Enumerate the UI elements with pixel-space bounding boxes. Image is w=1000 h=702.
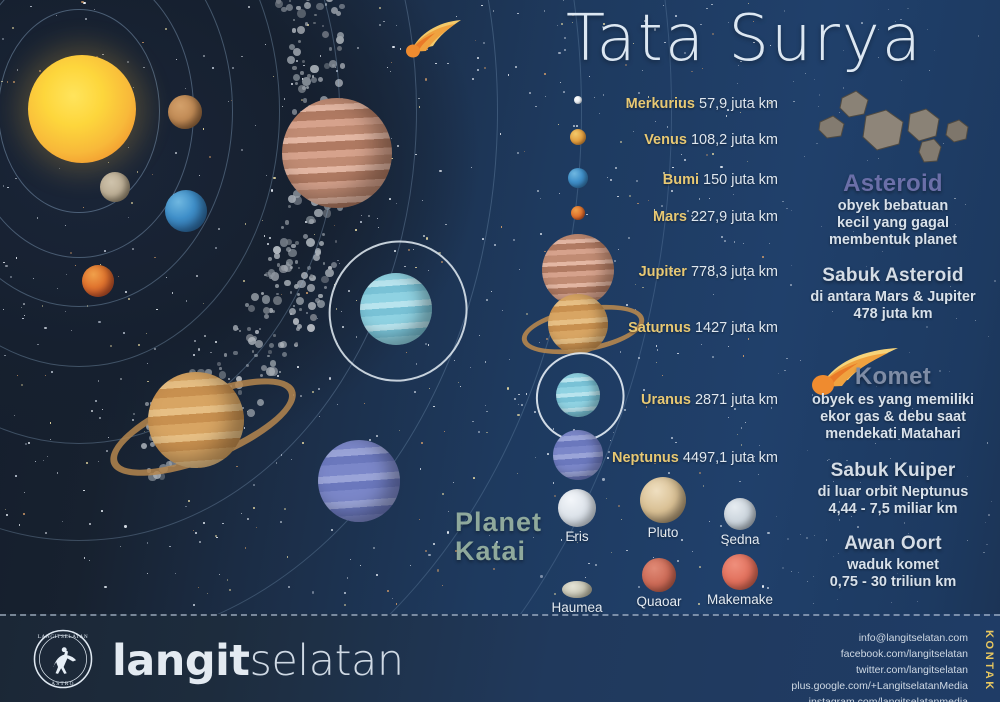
dwarf-planet-label: Haumea [538, 600, 616, 615]
pluto-icon [640, 477, 686, 523]
planet-jupiter-illustration [282, 98, 392, 208]
planet-venus-icon [570, 129, 586, 145]
planet-row-mars: Mars 227,9 juta km [653, 209, 778, 225]
asteroid-belt-line-2: 478 juta km [854, 306, 933, 322]
komet-block: Komet obyek es yang memiliki ekor gas & … [788, 363, 998, 443]
planet-name: Bumi [663, 172, 699, 188]
dwarf-planet-orb [701, 490, 779, 530]
planet-row-merkurius: Merkurius 57,9 juta km [626, 96, 778, 112]
planet-neptune-illustration [318, 440, 400, 522]
svg-text:LANGITSELATAN: LANGITSELATAN [38, 634, 89, 640]
kuiper-belt-block: Sabuk Kuiper di luar orbit Neptunus 4,44… [788, 460, 998, 518]
planet-distance: 57,9 juta km [699, 96, 778, 112]
dwarf-planet-orb [538, 487, 616, 527]
dwarf-planet-eris: Eris [538, 487, 616, 544]
asteroid-cluster-icon [812, 86, 992, 172]
planet-mars-icon [571, 206, 585, 220]
planet-mars-illustration [82, 265, 114, 297]
planet-row-venus: Venus 108,2 juta km [644, 132, 778, 148]
contact-facebook[interactable]: facebook.com/langitselatan [791, 647, 968, 663]
asteroid-belt-line-1: di antara Mars & Jupiter [810, 289, 975, 305]
dwarf-planet-orb [538, 558, 616, 598]
contact-list: info@langitselatan.com facebook.com/lang… [791, 631, 968, 702]
planet-row-saturnus: Saturnus 1427 juta km [628, 320, 778, 336]
dwarf-planet-label: Makemake [701, 592, 779, 607]
planet-earth-icon [568, 168, 588, 188]
planet-row-neptunus: Neptunus 4497,1 juta km [612, 450, 778, 466]
comet-illustration [405, 18, 475, 63]
planet-distance: 150 juta km [703, 172, 778, 188]
dwarf-planet-quaoar: Quaoar [620, 552, 698, 609]
page-title: Tata Surya [566, 2, 923, 76]
langitselatan-seal-logo: LANGITSELATAN ASTRO [32, 628, 94, 690]
brand-wordmark: langitselatan [112, 636, 404, 686]
komet-desc-line-3: mendekati Matahari [825, 426, 960, 442]
planet-distance: 1427 juta km [695, 320, 778, 336]
asteroid-heading: Asteroid [788, 170, 998, 198]
komet-desc-line-2: ekor gas & debu saat [820, 409, 966, 425]
contact-twitter[interactable]: twitter.com/langitselatan [791, 663, 968, 679]
dwarf-title-line-1: Planet [455, 508, 542, 537]
asteroid-belt-heading: Sabuk Asteroid [788, 265, 998, 287]
planet-mercury-icon [574, 96, 582, 104]
brand-bold: langit [112, 636, 249, 686]
orbit-ring-4 [0, 0, 280, 367]
contact-email[interactable]: info@langitselatan.com [791, 631, 968, 647]
dwarf-planet-makemake: Makemake [701, 550, 779, 607]
dwarf-planet-orb [620, 552, 698, 592]
oort-heading: Awan Oort [788, 533, 998, 555]
kuiper-heading: Sabuk Kuiper [788, 460, 998, 482]
planet-neptune-icon [553, 430, 603, 480]
asteroid-desc-line-1: obyek bebatuan [838, 198, 948, 214]
planet-name: Merkurius [626, 96, 695, 112]
svg-text:ASTRO: ASTRO [51, 681, 74, 687]
dwarf-title-line-2: Katai [455, 537, 542, 566]
asteroid-belt-detail: di antara Mars & Jupiter 478 juta km [788, 289, 998, 323]
dwarf-planet-haumea: Haumea [538, 558, 616, 615]
planet-venus-illustration [100, 172, 130, 202]
footer: LANGITSELATAN ASTRO langitselatan info@l… [0, 614, 1000, 702]
oort-detail: waduk komet 0,75 - 30 triliun km [788, 557, 998, 591]
oort-line-2: 0,75 - 30 triliun km [830, 574, 957, 590]
dwarf-planet-label: Pluto [624, 525, 702, 540]
contact-googleplus[interactable]: plus.google.com/+LangitselatanMedia [791, 679, 968, 695]
oort-line-1: waduk komet [847, 557, 939, 573]
komet-desc-line-1: obyek es yang memiliki [812, 392, 974, 408]
planet-distance: 778,3 juta km [691, 264, 778, 280]
eris-icon [558, 489, 596, 527]
dwarf-planet-orb [624, 483, 702, 523]
planet-saturn-illustration [148, 372, 244, 468]
oort-cloud-block: Awan Oort waduk komet 0,75 - 30 triliun … [788, 533, 998, 591]
planet-distance: 108,2 juta km [691, 132, 778, 148]
planet-saturn-icon [548, 294, 608, 354]
dwarf-planet-orb [701, 550, 779, 590]
infographic-poster: Tata Surya Merkurius 57,9 juta kmVenus 1… [0, 0, 1000, 702]
dwarf-planet-label: Quaoar [620, 594, 698, 609]
planet-distance: 4497,1 juta km [683, 450, 778, 466]
planet-mercury-illustration [168, 95, 202, 129]
dwarf-planet-label: Sedna [701, 532, 779, 547]
dwarf-planet-sedna: Sedna [701, 490, 779, 547]
planet-name: Mars [653, 209, 687, 225]
asteroid-description: obyek bebatuan kecil yang gagal membentu… [788, 198, 998, 249]
kuiper-detail: di luar orbit Neptunus 4,44 - 7,5 miliar… [788, 484, 998, 518]
planet-distance: 227,9 juta km [691, 209, 778, 225]
planet-row-uranus: Uranus 2871 juta km [641, 392, 778, 408]
makemake-icon [722, 554, 758, 590]
asteroid-desc-line-2: kecil yang gagal [837, 215, 949, 231]
planet-distance: 2871 juta km [695, 392, 778, 408]
planet-name: Venus [644, 132, 687, 148]
planet-name: Uranus [641, 392, 691, 408]
asteroid-desc-line-3: membentuk planet [829, 232, 957, 248]
planet-uranus-icon [556, 373, 600, 417]
planet-name: Saturnus [628, 320, 691, 336]
planet-name: Neptunus [612, 450, 679, 466]
haumea-icon [562, 581, 592, 598]
kuiper-line-2: 4,44 - 7,5 miliar km [829, 501, 958, 517]
komet-heading: Komet [788, 363, 998, 391]
komet-description: obyek es yang memiliki ekor gas & debu s… [788, 392, 998, 443]
dwarf-planets-title: Planet Katai [455, 508, 542, 566]
asteroid-belt-block: Sabuk Asteroid di antara Mars & Jupiter … [788, 265, 998, 323]
planet-row-bumi: Bumi 150 juta km [663, 172, 778, 188]
planet-uranus-illustration [360, 273, 432, 345]
kuiper-line-1: di luar orbit Neptunus [818, 484, 969, 500]
orbit-ring-3 [0, 0, 233, 307]
asteroid-block: Asteroid obyek bebatuan kecil yang gagal… [788, 170, 998, 249]
dwarf-planet-label: Eris [538, 529, 616, 544]
sun-illustration [28, 55, 136, 163]
planet-name: Jupiter [639, 264, 687, 280]
brand-light: selatan [249, 636, 403, 686]
planet-earth-illustration [165, 190, 207, 232]
kontak-label: KONTAK [983, 630, 995, 692]
sedna-icon [724, 498, 756, 530]
dwarf-planet-pluto: Pluto [624, 483, 702, 540]
planet-row-jupiter: Jupiter 778,3 juta km [639, 264, 778, 280]
contact-instagram[interactable]: instagram.com/langitselatanmedia [791, 695, 968, 702]
quaoar-icon [642, 558, 676, 592]
